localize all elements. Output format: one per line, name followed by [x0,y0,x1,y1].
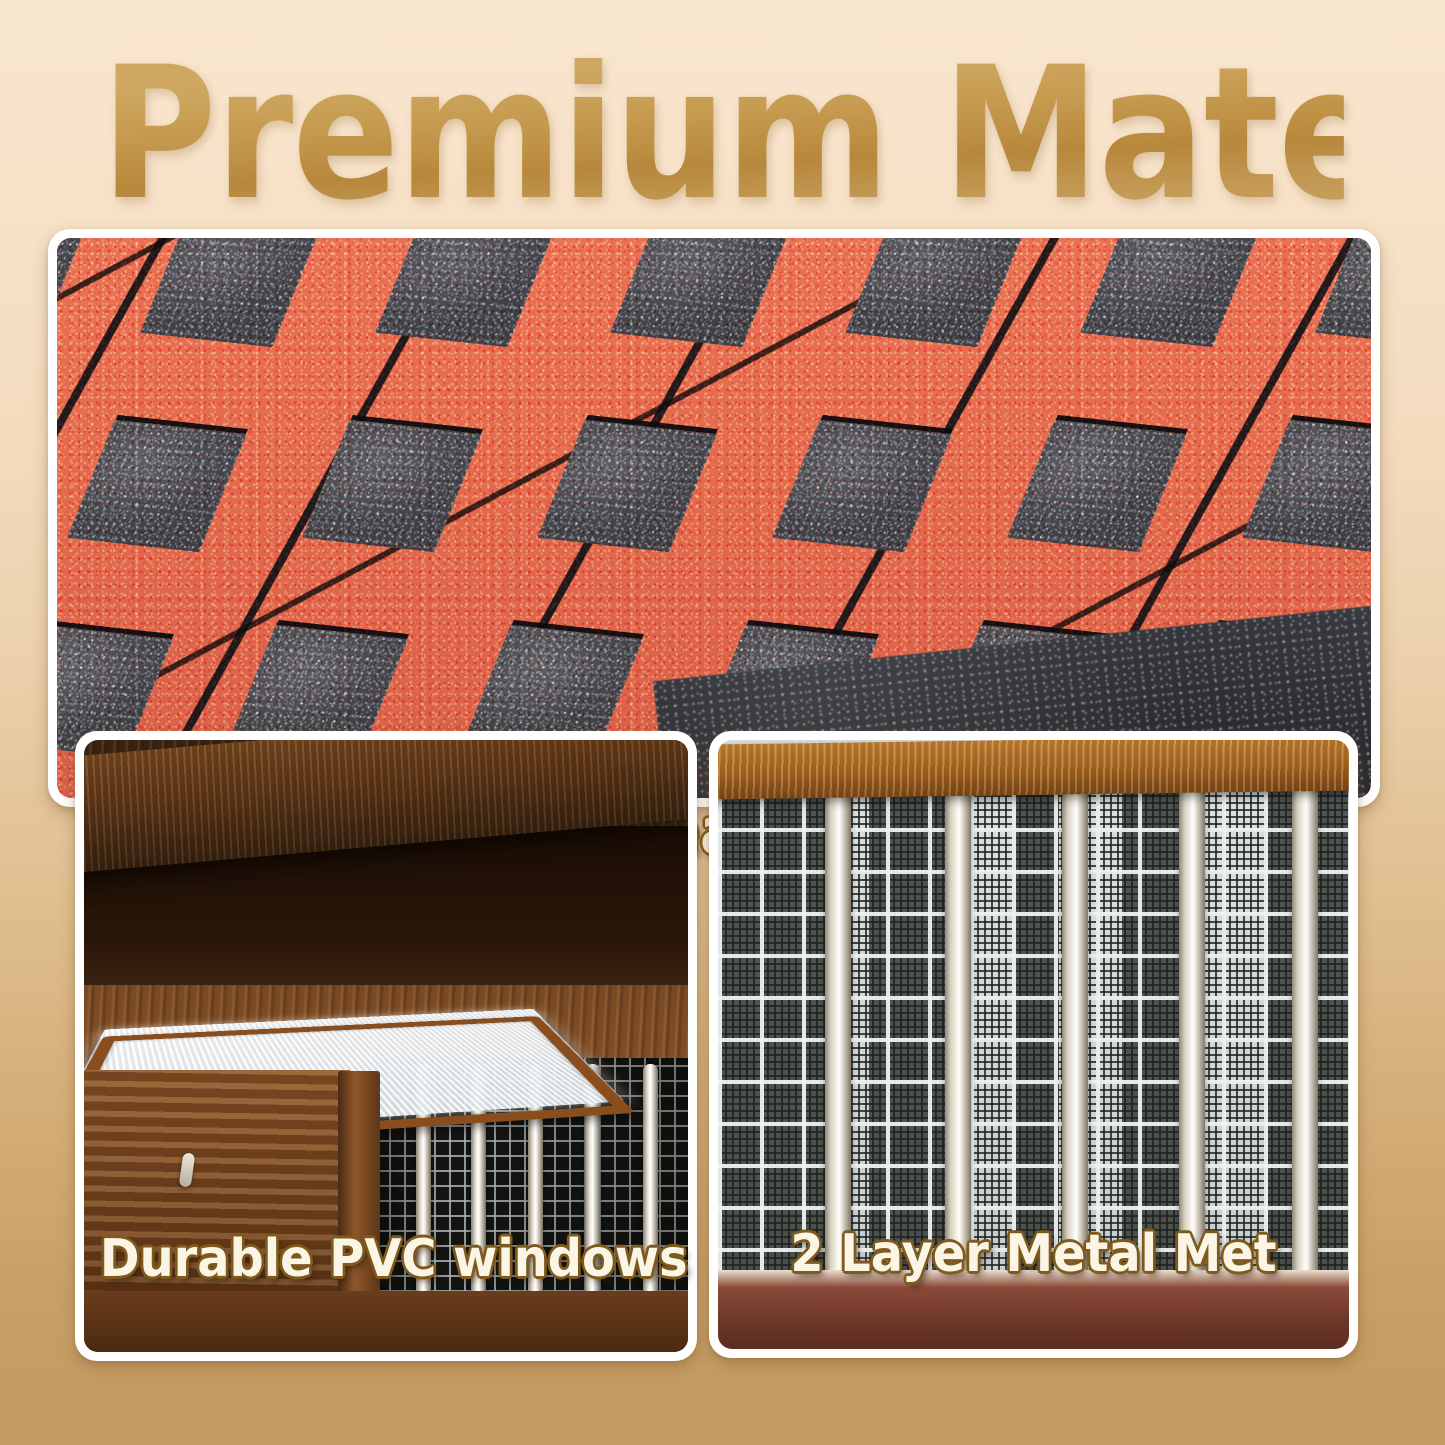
roof-photo [57,238,1371,798]
feature-card-roof: Waterproof & heat-insulating roof [48,229,1380,807]
feature-card-metal-mesh: 2 Layer Metal Met [709,731,1358,1358]
feature-card-pvc-windows: Durable PVC windows [75,731,697,1361]
mesh-coarse-wire-layer [718,783,1349,1295]
premium-material-poster: Premium Material Waterproof & heat-insul… [0,0,1445,1445]
caption-metal-mesh: 2 Layer Metal Met [735,1224,1332,1284]
pvc-floor-board [84,1291,688,1352]
caption-pvc-windows: Durable PVC windows [100,1229,672,1289]
mesh-top-wood-rail [718,740,1349,799]
page-title: Premium Material [101,40,1344,230]
